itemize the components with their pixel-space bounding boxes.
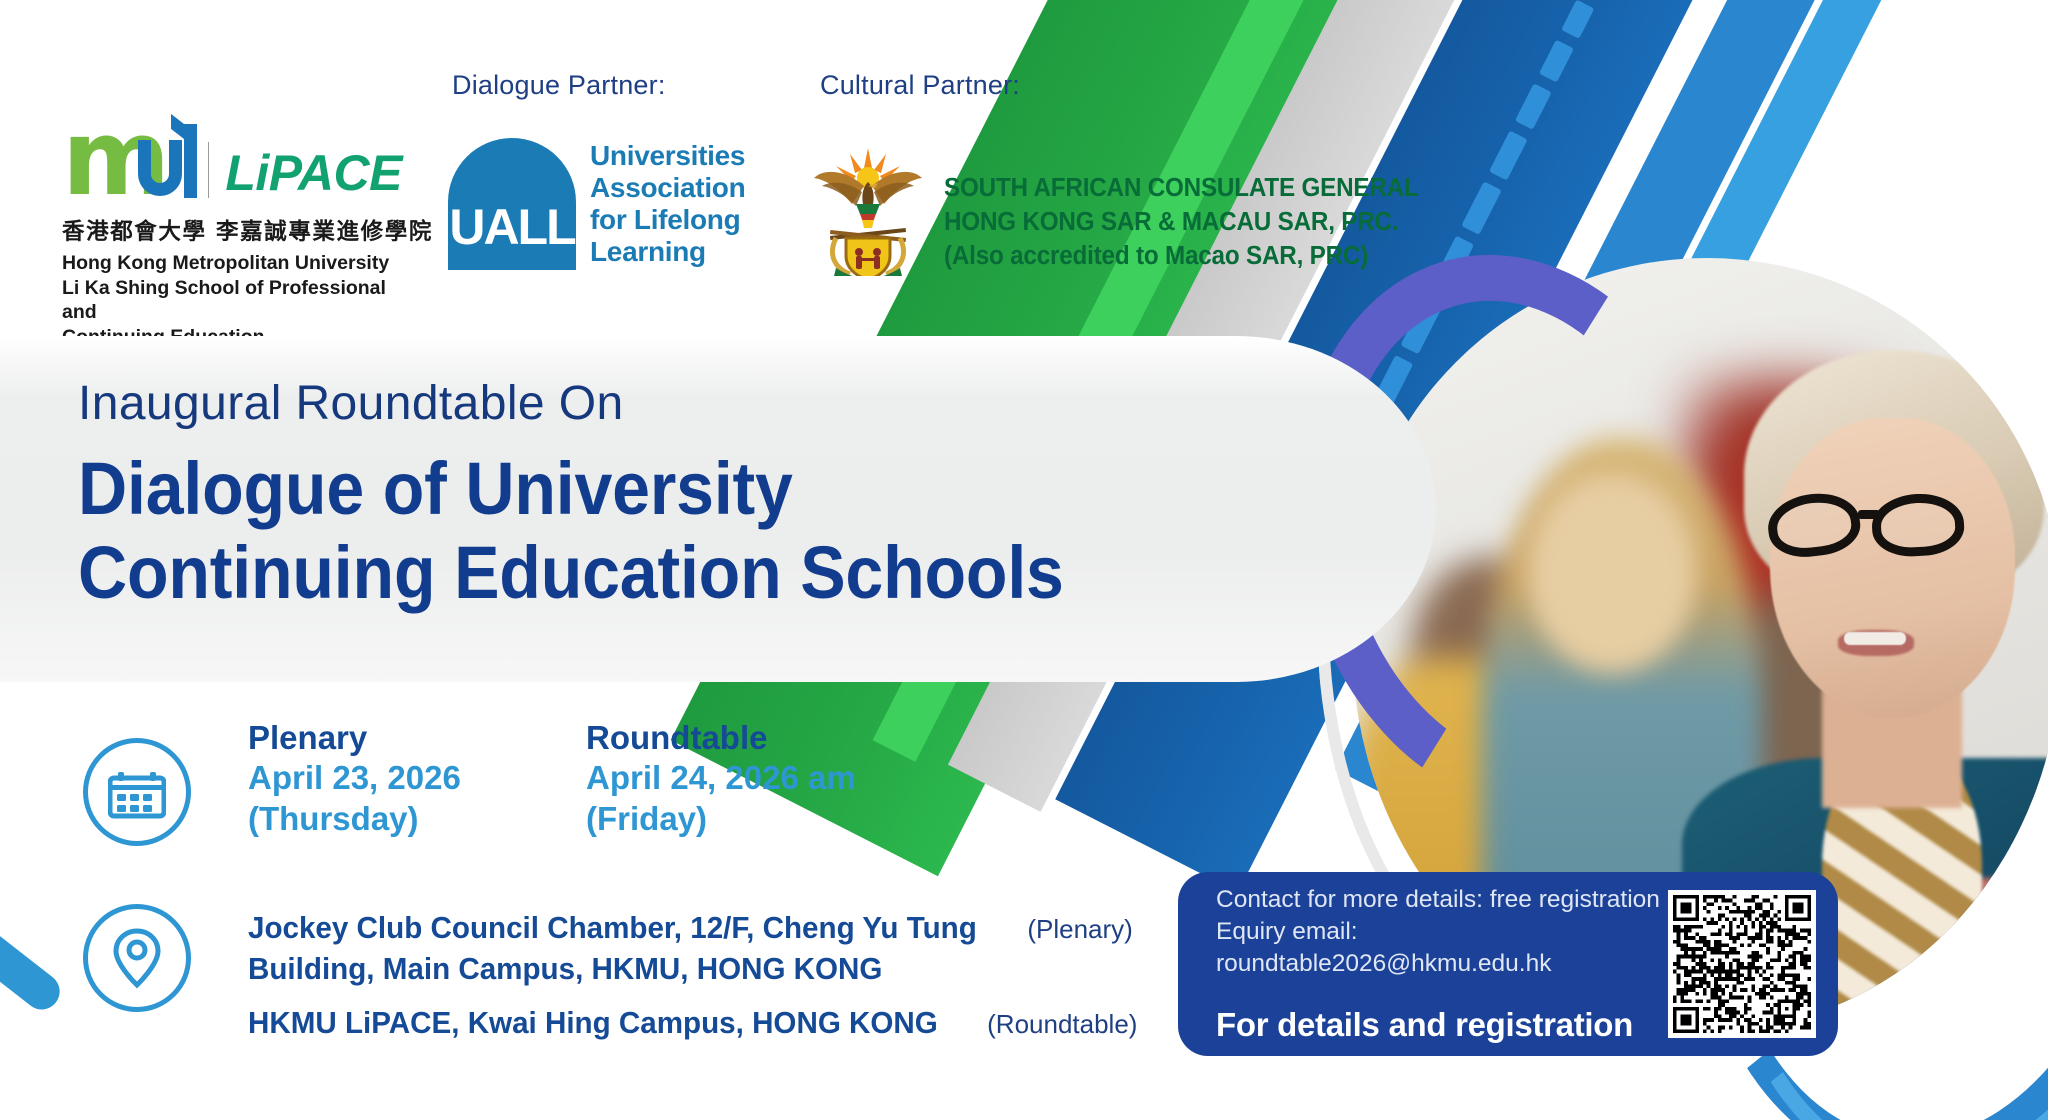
uall-line2: Association (590, 172, 745, 204)
venue-roundtable-line1: HKMU LiPACE, Kwai Hing Campus, HONG KONG (248, 1003, 938, 1044)
calendar-icon (83, 738, 191, 846)
event-banner: Dialogue Partner: Cultural Partner: m Li… (0, 0, 2048, 1120)
hkmu-english-line1: Hong Kong Metropolitan University (62, 251, 402, 276)
mu-logomark-icon: m (62, 118, 198, 204)
uall-arch-icon: UALL (448, 138, 576, 270)
south-african-consulate-logo: SOUTH AFRICAN CONSULATE GENERAL HONG KON… (806, 142, 1444, 276)
event-title: Dialogue of University Continuing Educat… (78, 447, 1064, 614)
schedule-item-roundtable: Roundtable April 24, 2026 am (Friday) (586, 718, 924, 839)
logo-header: Dialogue Partner: Cultural Partner: m Li… (0, 0, 1400, 330)
venue-list: Jockey Club Council Chamber, 12/F, Cheng… (248, 908, 1137, 1044)
title-band: Inaugural Roundtable On Dialogue of Univ… (0, 336, 1436, 682)
venue-plenary-tag: (Plenary) (1027, 914, 1132, 945)
schedule-item-plenary: Plenary April 23, 2026 (Thursday) (248, 718, 586, 839)
logo-divider (208, 142, 210, 198)
venue-plenary-line2: Building, Main Campus, HKMU, HONG KONG (248, 949, 882, 990)
roundtable-day: (Friday) (586, 799, 924, 839)
registration-cta: For details and registration (1216, 1006, 1668, 1044)
lipace-wordmark: LiPACE (225, 148, 402, 204)
registration-box[interactable]: Contact for more details: free registrat… (1178, 872, 1838, 1056)
south-africa-coat-of-arms-icon (806, 142, 930, 276)
venue-roundtable-tag: (Roundtable) (987, 1009, 1137, 1040)
hkmu-lipace-logo: m LiPACE 香港都會大學 李嘉誠專業進修學院 Hong Kong Metr… (62, 118, 402, 349)
bottom-left-accent-decoration (0, 929, 67, 1016)
event-title-line2: Continuing Education Schools (78, 531, 1064, 615)
uall-line3: for Lifelong (590, 204, 745, 236)
registration-email-line: Equiry email: roundtable2026@hkmu.edu.hk (1216, 916, 1668, 980)
roundtable-name: Roundtable (586, 718, 924, 758)
plenary-name: Plenary (248, 718, 586, 758)
uall-acronym: UALL (448, 198, 576, 256)
uall-line4: Learning (590, 236, 745, 268)
sa-consulate-line3: (Also accredited to Macao SAR, PRC) (944, 240, 1419, 274)
dialogue-partner-label: Dialogue Partner: (452, 70, 666, 101)
venue-plenary-line1: Jockey Club Council Chamber, 12/F, Cheng… (248, 908, 977, 949)
location-pin-icon (83, 904, 191, 1012)
registration-contact-line: Contact for more details: free registrat… (1216, 884, 1668, 916)
event-title-line1: Dialogue of University (78, 447, 1064, 531)
plenary-date: April 23, 2026 (248, 758, 586, 798)
title-kicker: Inaugural Roundtable On (78, 376, 1149, 431)
uall-logo: UALL Universities Association for Lifelo… (448, 138, 745, 270)
sa-consulate-line1: SOUTH AFRICAN CONSULATE GENERAL (944, 172, 1419, 206)
cultural-partner-label: Cultural Partner: (820, 70, 1020, 101)
sa-consulate-line2: HONG KONG SAR & MACAU SAR, PRC. (944, 206, 1419, 240)
qr-code[interactable] (1668, 890, 1816, 1038)
hkmu-english-line2: Li Ka Shing School of Professional and (62, 276, 402, 325)
schedule-list: Plenary April 23, 2026 (Thursday) Roundt… (248, 718, 924, 839)
uall-line1: Universities (590, 140, 745, 172)
plenary-day: (Thursday) (248, 799, 586, 839)
roundtable-date: April 24, 2026 am (586, 758, 924, 798)
